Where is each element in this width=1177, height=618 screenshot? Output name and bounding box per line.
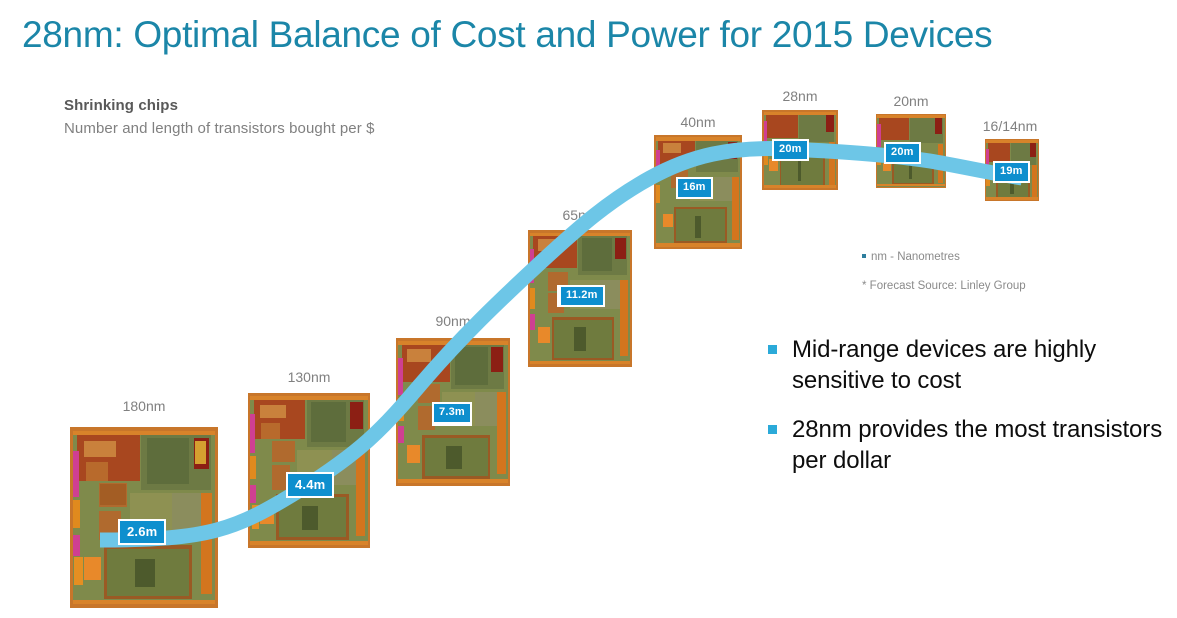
node-label-16-14nm: 16/14nm: [972, 118, 1048, 134]
node-label-28nm: 28nm: [762, 88, 838, 104]
die-image-180nm: [70, 427, 218, 608]
node-label-65nm: 65nm: [528, 207, 632, 223]
footnote-nm-text: nm - Nanometres: [871, 251, 960, 263]
value-badge-65nm-top: 11.2m: [559, 285, 605, 307]
footnote-source: * Forecast Source: Linley Group: [862, 279, 1122, 294]
value-badge-20nm-top: 20m: [884, 142, 921, 164]
transistor-cost-chart: 180nm: [0, 0, 1177, 618]
footnote-nm: nm - Nanometres: [862, 250, 1122, 265]
value-badge-40nm-top: 16m: [676, 177, 713, 199]
node-label-130nm: 130nm: [248, 369, 370, 385]
footnote-bullet-icon: [862, 254, 866, 258]
node-label-20nm: 20nm: [876, 93, 946, 109]
bullet-text-1: Mid-range devices are highly sensitive t…: [792, 334, 1168, 396]
slide-canvas: 28nm: Optimal Balance of Cost and Power …: [0, 0, 1177, 618]
bullet-text-2: 28nm provides the most transistors per d…: [792, 414, 1168, 476]
value-badge-180nm-top: 2.6m: [118, 519, 166, 545]
footnote-source-text: * Forecast Source: Linley Group: [862, 280, 1026, 292]
bullet-square-icon: [768, 425, 777, 434]
value-badge-90nm-top: 7.3m: [432, 402, 472, 424]
value-badge-16-14nm-top: 19m: [993, 161, 1030, 183]
node-label-40nm: 40nm: [654, 114, 742, 130]
value-badge-130nm-top: 4.4m: [286, 472, 334, 498]
key-points-list: Mid-range devices are highly sensitive t…: [768, 334, 1168, 494]
footnotes: nm - Nanometres * Forecast Source: Linle…: [862, 250, 1122, 308]
node-label-180nm: 180nm: [70, 398, 218, 414]
node-label-90nm: 90nm: [396, 313, 510, 329]
die-image-130nm: [248, 393, 370, 548]
list-item: Mid-range devices are highly sensitive t…: [768, 334, 1168, 396]
bullet-square-icon: [768, 345, 777, 354]
value-badge-28nm-top: 20m: [772, 139, 809, 161]
list-item: 28nm provides the most transistors per d…: [768, 414, 1168, 476]
